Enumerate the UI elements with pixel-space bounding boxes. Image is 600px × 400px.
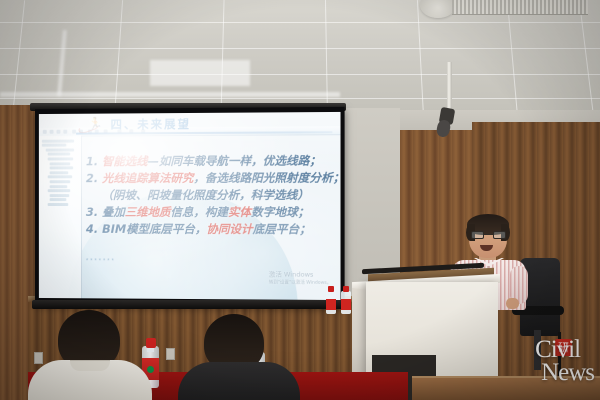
bullet-text: 底层平台； (253, 222, 311, 236)
bullet-number: 4. (86, 222, 102, 236)
presentation-slide: 🏃 四、未来展望 1. 智能选线—如同车载导航一样，优选线路；2. 光线追踪算法… (39, 112, 341, 300)
projection-screen: 🏃 四、未来展望 1. 智能选线—如同车载导航一样，优选线路；2. 光线追踪算法… (35, 107, 345, 306)
bullet-highlight-text: 光线追踪算法研究 (102, 171, 193, 185)
bullet-highlight-text: 智能选线 (102, 154, 148, 168)
watermark-line-1: Civil (535, 338, 594, 361)
bullet-text: 叠加 (102, 205, 125, 219)
audience-collar (70, 360, 110, 371)
slide-bullet-row: 1. 智能选线—如同车载导航一样，优选线路； (86, 152, 339, 170)
civil-news-watermark: Civil News (535, 338, 594, 384)
glasses-icon (471, 231, 506, 239)
activation-line-1: 激活 Windows (269, 268, 332, 278)
projector-mount-rod (447, 62, 452, 114)
audience-member-dark-shirt (178, 314, 300, 400)
ceiling-vent-round-icon (420, 0, 456, 18)
bullet-text: BIM模型底层平台， (102, 222, 206, 236)
presenter-right-hand (506, 298, 519, 309)
slide-footer-text: ******* (86, 259, 116, 265)
suspended-ceiling-grid (0, 0, 600, 118)
running-figure-logo: 🏃 (78, 118, 106, 132)
slide-bullet-row: 2. 光线追踪算法研究，备选线路阳光照射度分析； (86, 170, 339, 188)
slide-bullet-row: 4. BIM模型底层平台，协同设计底层平台； (86, 221, 339, 238)
bullet-number: 2. (86, 171, 102, 185)
bullet-text: —如同车载导航一样，优选线路； (148, 153, 321, 168)
wall-outlet (166, 348, 175, 360)
bullet-highlight-text: 实体 (228, 205, 251, 219)
bullet-highlight-text: 三维地质 (125, 205, 171, 219)
bullet-number: 3. (86, 205, 102, 219)
water-bottle (326, 286, 336, 314)
screen-bottom-weight-bar (32, 300, 344, 309)
activation-line-2: 转到"设置"以激活 Windows。 (269, 279, 332, 285)
slide-bullet-list: 1. 智能选线—如同车载导航一样，优选线路；2. 光线追踪算法研究，备选线路阳光… (86, 152, 339, 238)
audience-member-white-shirt (28, 310, 152, 400)
bullet-text: 数字地球； (251, 205, 309, 219)
bullet-text: 信息，构建 (170, 205, 228, 219)
bullet-text: （阴坡、阳坡量化照度分析，科学选线） (102, 188, 309, 202)
water-bottle (341, 286, 351, 314)
slide-title-text: 四、未来展望 (111, 116, 191, 132)
photo-scene: 🏃 四、未来展望 1. 智能选线—如同车载导航一样，优选线路；2. 光线追踪算法… (0, 0, 600, 400)
bullet-number: 1. (86, 154, 102, 168)
bullet-highlight-text: 协同设计 (206, 222, 252, 236)
slide-bullet-row: （阴坡、阳坡量化照度分析，科学选线） (86, 187, 339, 204)
slide-bullet-row: 3. 叠加三维地质信息，构建实体数字地球； (86, 204, 339, 221)
windows-activation-watermark: 激活 Windows 转到"设置"以激活 Windows。 (269, 268, 332, 285)
watermark-line-2: News (541, 361, 594, 384)
audience-shoulders (178, 362, 300, 400)
bullet-text: ，备选线路阳光照射度分析； (193, 171, 340, 185)
powerpoint-outline-pane[interactable] (39, 136, 82, 299)
air-vent (452, 0, 588, 15)
